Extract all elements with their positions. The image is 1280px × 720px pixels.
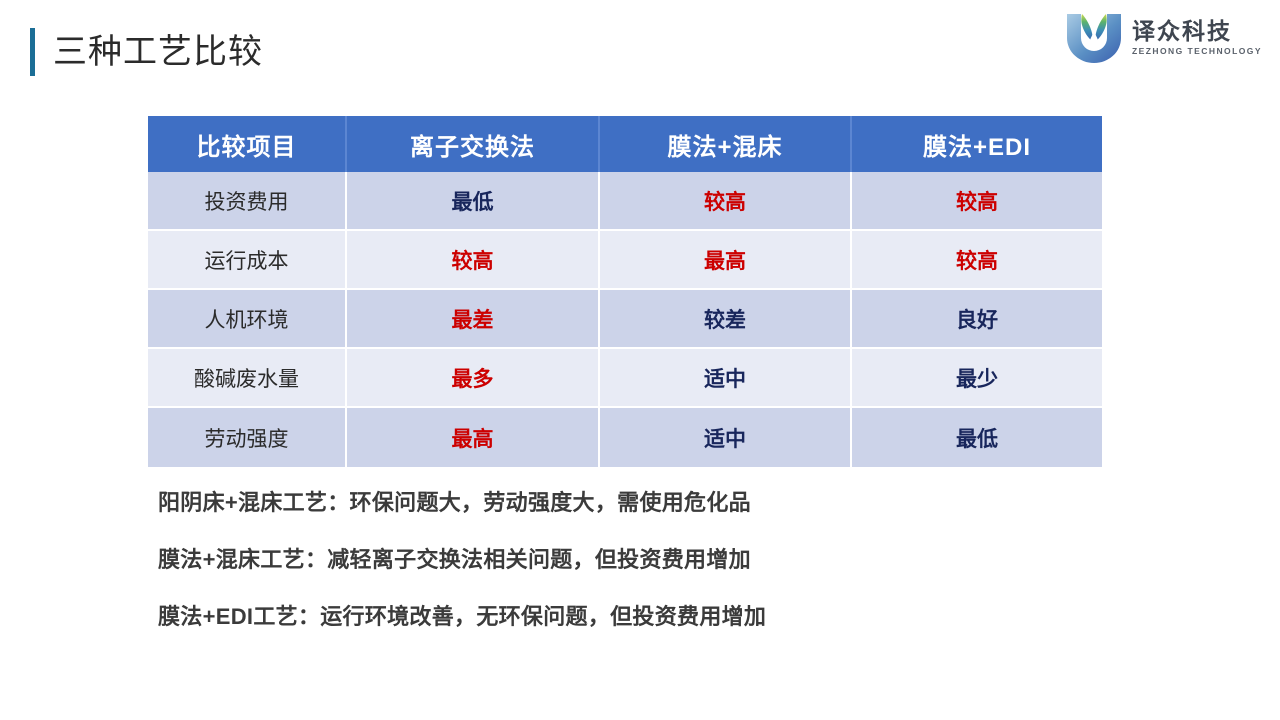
cell-value: 适中 [600, 408, 852, 467]
table-header: 比较项目 离子交换法 膜法+混床 膜法+EDI [148, 116, 1102, 172]
slide-title-block: 三种工艺比较 [30, 28, 263, 76]
column-header-ion-exchange: 离子交换法 [347, 116, 600, 172]
column-header-criteria: 比较项目 [148, 116, 347, 172]
cell-value: 最高 [600, 231, 852, 290]
note-line: 膜法+EDI工艺：运行环境改善，无环保问题，但投资费用增加 [158, 606, 1158, 628]
note-line: 阳阴床+混床工艺：环保问题大，劳动强度大，需使用危化品 [158, 492, 1158, 514]
cell-value: 最高 [347, 408, 600, 467]
cell-value: 较高 [600, 172, 852, 231]
table-row: 人机环境 最差 较差 良好 [148, 290, 1102, 349]
table-header-row: 比较项目 离子交换法 膜法+混床 膜法+EDI [148, 116, 1102, 172]
cell-value: 适中 [600, 349, 852, 408]
column-header-membrane-mixbed: 膜法+混床 [600, 116, 852, 172]
row-label: 投资费用 [148, 172, 347, 231]
table-row: 运行成本 较高 最高 较高 [148, 231, 1102, 290]
note-line: 膜法+混床工艺：减轻离子交换法相关问题，但投资费用增加 [158, 549, 1158, 571]
row-label: 运行成本 [148, 231, 347, 290]
logo-text: 译众科技 ZEZHONG TECHNOLOGY [1132, 17, 1262, 56]
cell-value: 最低 [347, 172, 600, 231]
column-header-membrane-edi: 膜法+EDI [852, 116, 1102, 172]
brand-logo: 译众科技 ZEZHONG TECHNOLOGY [1065, 11, 1262, 63]
cell-value: 较高 [852, 172, 1102, 231]
cell-value: 最差 [347, 290, 600, 349]
logo-name-en: ZEZHONG TECHNOLOGY [1132, 46, 1262, 57]
cell-value: 良好 [852, 290, 1102, 349]
cell-value: 最多 [347, 349, 600, 408]
table-row: 酸碱废水量 最多 适中 最少 [148, 349, 1102, 408]
cell-value: 最低 [852, 408, 1102, 467]
table-body: 投资费用 最低 较高 较高 运行成本 较高 最高 较高 人机环境 最差 较差 良… [148, 172, 1102, 467]
cell-value: 较高 [852, 231, 1102, 290]
page-title: 三种工艺比较 [53, 35, 263, 69]
cell-value: 最少 [852, 349, 1102, 408]
row-label: 劳动强度 [148, 408, 347, 467]
logo-name-cn: 译众科技 [1132, 19, 1262, 43]
row-label: 人机环境 [148, 290, 347, 349]
leaf-droplet-logo-icon [1065, 11, 1123, 63]
table-row: 劳动强度 最高 适中 最低 [148, 408, 1102, 467]
process-comparison-table: 比较项目 离子交换法 膜法+混床 膜法+EDI 投资费用 最低 较高 较高 运行… [148, 116, 1102, 467]
title-accent-bar [30, 28, 35, 76]
table-row: 投资费用 最低 较高 较高 [148, 172, 1102, 231]
cell-value: 较差 [600, 290, 852, 349]
cell-value: 较高 [347, 231, 600, 290]
summary-notes: 阳阴床+混床工艺：环保问题大，劳动强度大，需使用危化品 膜法+混床工艺：减轻离子… [158, 492, 1158, 628]
row-label: 酸碱废水量 [148, 349, 347, 408]
